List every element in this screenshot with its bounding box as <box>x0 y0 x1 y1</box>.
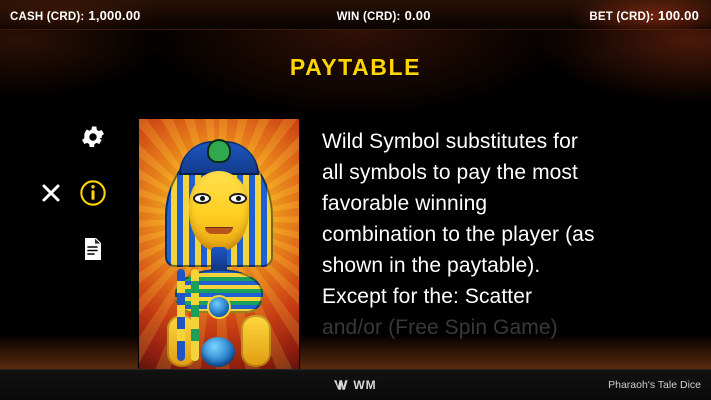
game-title: Pharaoh's Tale Dice <box>608 379 701 391</box>
close-icon <box>39 181 63 210</box>
wm-mark-icon <box>334 378 350 392</box>
desc-line: Wild Symbol substitutes for <box>322 126 694 157</box>
desc-line: Except for the: Scatter <box>322 281 694 312</box>
bet-meter: BET (CRD):100.00 <box>589 8 699 23</box>
game-screen: CASH (CRD):1,000.00 WIN (CRD):0.00 BET (… <box>0 0 711 400</box>
wild-symbol-image <box>138 118 300 370</box>
info-button[interactable] <box>76 178 110 212</box>
settings-button[interactable] <box>76 122 110 156</box>
close-button[interactable] <box>34 178 68 212</box>
desc-line: combination to the player (as <box>322 219 694 250</box>
bet-value: 100.00 <box>658 8 699 23</box>
rules-button[interactable] <box>76 234 110 268</box>
gear-icon <box>79 123 107 156</box>
win-label: WIN (CRD): <box>337 11 401 23</box>
brand-label: WM <box>353 378 376 392</box>
cash-meter: CASH (CRD):1,000.00 <box>10 8 141 23</box>
desc-line: and/or (Free Spin Game) <box>322 312 694 343</box>
win-meter: WIN (CRD):0.00 <box>337 8 431 23</box>
desc-line: shown in the paytable). <box>322 250 694 281</box>
cash-value: 1,000.00 <box>88 8 140 23</box>
symbol-description: Wild Symbol substitutes for all symbols … <box>322 126 694 343</box>
cash-label: CASH (CRD): <box>10 11 84 23</box>
page-title: PAYTABLE <box>0 54 711 81</box>
win-value: 0.00 <box>405 8 431 23</box>
bet-label: BET (CRD): <box>589 11 654 23</box>
brand-logo: WM <box>334 378 376 392</box>
desc-line: favorable winning <box>322 188 694 219</box>
desc-line: all symbols to pay the most <box>322 157 694 188</box>
bottom-bar: WM Pharaoh's Tale Dice <box>0 369 711 400</box>
info-icon <box>79 179 107 212</box>
rules-icon <box>81 236 105 267</box>
top-meter-bar: CASH (CRD):1,000.00 WIN (CRD):0.00 BET (… <box>0 0 711 30</box>
